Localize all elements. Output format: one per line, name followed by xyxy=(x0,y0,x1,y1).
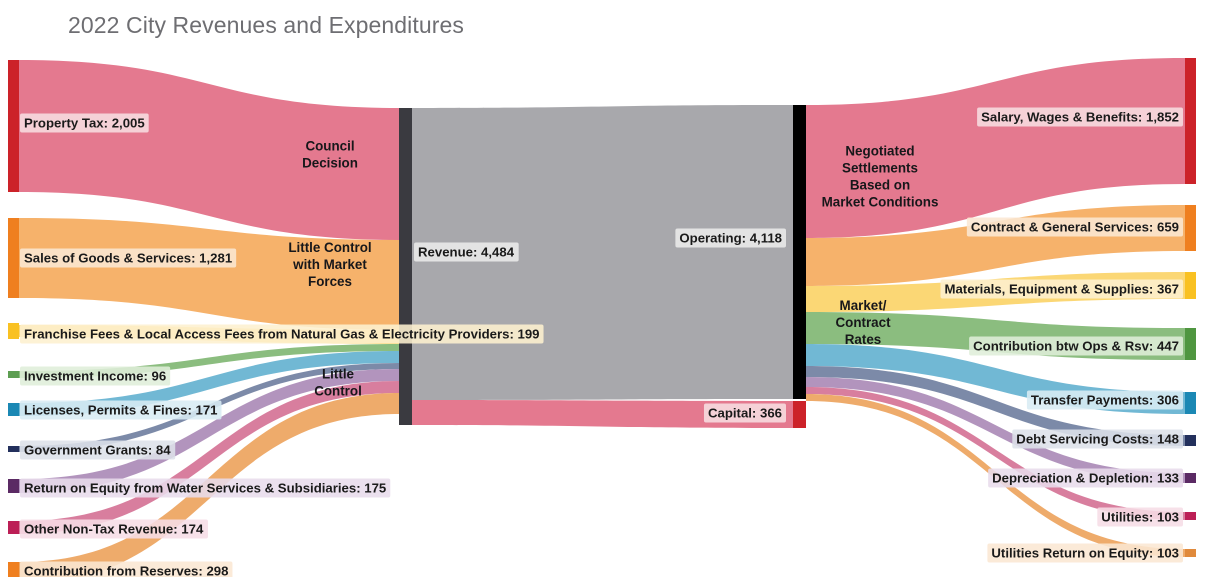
node-bar-licenses_permits_fines[interactable] xyxy=(8,403,19,416)
node-bar-debt_servicing_costs[interactable] xyxy=(1185,435,1196,446)
node-bar-capital[interactable] xyxy=(793,401,806,428)
node-bar-contract_general_services[interactable] xyxy=(1185,205,1196,251)
node-bar-revenue[interactable] xyxy=(399,108,412,425)
node-label-utilities: Utilities: 103 xyxy=(1101,509,1179,524)
node-label-franchise_fees: Franchise Fees & Local Access Fees from … xyxy=(24,326,540,341)
node-label-property_tax: Property Tax: 2,005 xyxy=(24,115,145,130)
middle-flow-group xyxy=(412,105,793,428)
node-bar-property_tax[interactable] xyxy=(8,60,19,192)
node-label-depreciation_depletion: Depreciation & Depletion: 133 xyxy=(992,470,1179,485)
node-bar-transfer_payments[interactable] xyxy=(1185,392,1196,414)
node-bar-franchise_fees[interactable] xyxy=(8,323,19,339)
node-bar-other_non_tax[interactable] xyxy=(8,521,19,534)
node-label-sales_goods_services: Sales of Goods & Services: 1,281 xyxy=(24,250,232,265)
node-bar-investment_income[interactable] xyxy=(8,371,19,378)
node-bar-materials_equipment_supplies[interactable] xyxy=(1185,272,1196,299)
node-label-revenue: Revenue: 4,484 xyxy=(418,244,515,259)
node-bar-operating[interactable] xyxy=(793,105,806,399)
node-label-contribution_ops_rsv: Contribution btw Ops & Rsv: 447 xyxy=(973,338,1179,353)
node-label-transfer_payments: Transfer Payments: 306 xyxy=(1031,392,1179,407)
node-label-government_grants: Government Grants: 84 xyxy=(24,442,171,457)
node-label-contribution_reserves: Contribution from Reserves: 298 xyxy=(24,563,228,577)
node-label-return_equity_water: Return on Equity from Water Services & S… xyxy=(24,480,386,495)
node-bar-contribution_ops_rsv[interactable] xyxy=(1185,328,1196,360)
node-bar-return_equity_water[interactable] xyxy=(8,479,19,493)
node-label-other_non_tax: Other Non-Tax Revenue: 174 xyxy=(24,521,204,536)
node-label-utilities_return_equity: Utilities Return on Equity: 103 xyxy=(991,545,1179,560)
node-bar-utilities_return_equity[interactable] xyxy=(1185,549,1196,557)
sankey-diagram: Property Tax: 2,005Sales of Goods & Serv… xyxy=(0,0,1208,577)
node-label-licenses_permits_fines: Licenses, Permits & Fines: 171 xyxy=(24,402,218,417)
node-label-contract_general_services: Contract & General Services: 659 xyxy=(971,219,1179,234)
node-label-debt_servicing_costs: Debt Servicing Costs: 148 xyxy=(1016,431,1179,446)
node-label-investment_income: Investment Income: 96 xyxy=(24,368,166,383)
node-bar-depreciation_depletion[interactable] xyxy=(1185,473,1196,483)
node-label-materials_equipment_supplies: Materials, Equipment & Supplies: 367 xyxy=(944,281,1179,296)
node-label-salary_wages_benefits: Salary, Wages & Benefits: 1,852 xyxy=(981,109,1179,124)
node-bar-utilities[interactable] xyxy=(1185,512,1196,520)
node-bar-contribution_reserves[interactable] xyxy=(8,562,19,577)
node-label-operating: Operating: 4,118 xyxy=(679,230,782,245)
node-bar-sales_goods_services[interactable] xyxy=(8,218,19,298)
node-bar-salary_wages_benefits[interactable] xyxy=(1185,58,1196,184)
node-bar-government_grants[interactable] xyxy=(8,446,19,452)
node-label-capital: Capital: 366 xyxy=(708,405,782,420)
